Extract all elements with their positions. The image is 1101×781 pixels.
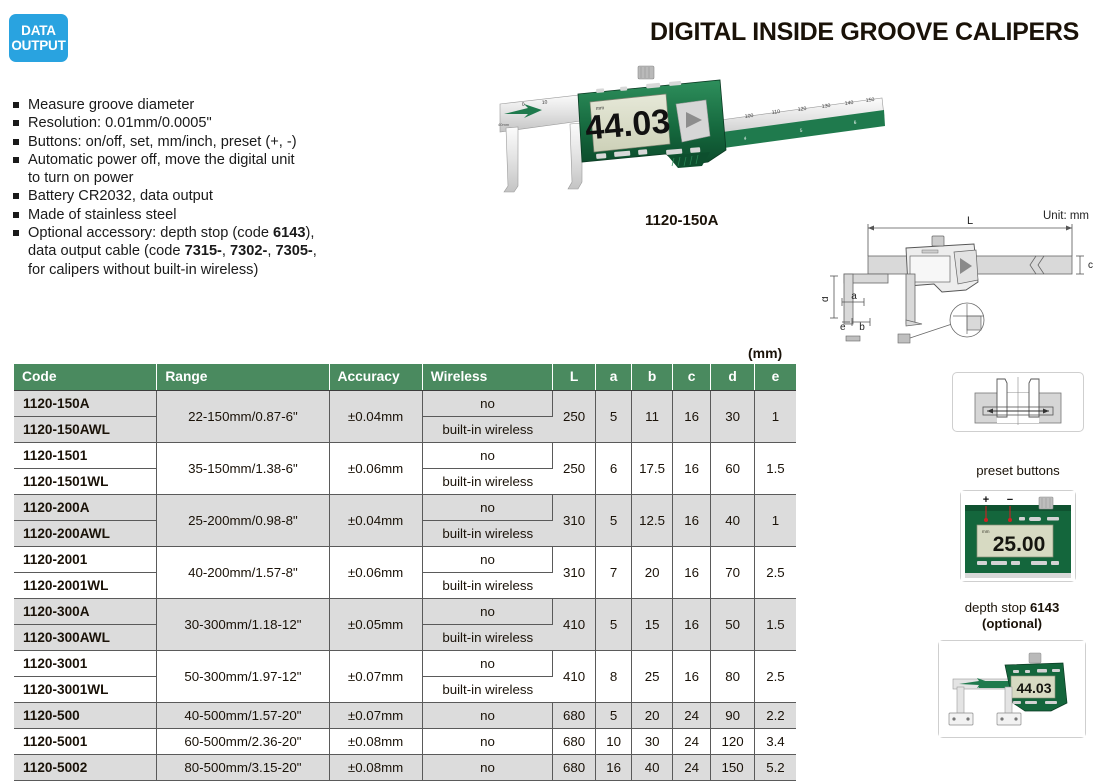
- cell-dim-a: 5: [595, 598, 631, 650]
- cell-dim-c: 24: [672, 754, 710, 780]
- product-photo-main: 0 10 40mm 80 100 110 120 130 140 150 4 5…: [470, 58, 890, 218]
- cell-dim-b: 40: [632, 754, 673, 780]
- cell-dim-e: 3.4: [754, 728, 796, 754]
- dim-label-b: b: [859, 322, 865, 333]
- feature-text-continuation: to turn on power: [10, 169, 430, 187]
- column-header-l: L: [553, 364, 596, 390]
- badge-line-1: DATA: [21, 23, 56, 38]
- dim-label-e: e: [840, 322, 846, 333]
- cell-range: 25-200mm/0.98-8": [157, 494, 329, 546]
- feature-item: Optional accessory: depth stop (code 614…: [10, 224, 430, 242]
- table-header-row: CodeRangeAccuracyWirelessLabcde: [14, 364, 796, 390]
- bullet-icon: [13, 157, 19, 163]
- cell-accuracy: ±0.07mm: [329, 702, 422, 728]
- bullet-icon: [13, 139, 19, 145]
- column-header-b: b: [632, 364, 673, 390]
- table-row: 1120-150A22-150mm/0.87-6"±0.04mmno250511…: [14, 390, 796, 416]
- cell-range: 30-300mm/1.18-12": [157, 598, 329, 650]
- preset-buttons-panel: + − 25.00 mm: [960, 490, 1076, 582]
- cell-dim-b: 17.5: [632, 442, 673, 494]
- cell-dim-c: 16: [672, 598, 710, 650]
- cell-accuracy: ±0.06mm: [329, 442, 422, 494]
- cell-dim-b: 15: [632, 598, 673, 650]
- feature-list: Measure groove diameterResolution: 0.01m…: [10, 96, 430, 279]
- data-output-badge: DATA OUTPUT: [9, 14, 68, 62]
- product-model-label: 1120-150A: [645, 212, 718, 229]
- cell-range: 22-150mm/0.87-6": [157, 390, 329, 442]
- depth-stop-caption-main: depth stop: [965, 600, 1030, 615]
- specifications-table: CodeRangeAccuracyWirelessLabcde 1120-150…: [14, 364, 796, 781]
- cell-dim-c: 16: [672, 390, 710, 442]
- cell-accuracy: ±0.04mm: [329, 494, 422, 546]
- cell-dim-L: 680: [553, 754, 596, 780]
- cell-wireless: no: [422, 650, 553, 676]
- cell-dim-L: 680: [553, 702, 596, 728]
- feature-item: Battery CR2032, data output: [10, 187, 430, 205]
- cell-dim-d: 120: [711, 728, 755, 754]
- page-title: DIGITAL INSIDE GROOVE CALIPERS: [650, 18, 1079, 47]
- dim-label-a: a: [851, 291, 857, 302]
- table-row: 1120-500160-500mm/2.36-20"±0.08mmno68010…: [14, 728, 796, 754]
- feature-text: Automatic power off, move the digital un…: [28, 151, 430, 169]
- cell-dim-L: 250: [553, 442, 596, 494]
- cell-dim-e: 2.5: [754, 546, 796, 598]
- cell-code: 1120-200A: [14, 494, 157, 520]
- column-header-wireless: Wireless: [422, 364, 553, 390]
- column-header-a: a: [595, 364, 631, 390]
- cell-dim-e: 1.5: [754, 442, 796, 494]
- cell-wireless: no: [422, 546, 553, 572]
- cell-dim-c: 24: [672, 702, 710, 728]
- feature-text-continuation: for calipers without built-in wireless): [10, 261, 430, 279]
- table-row: 1120-200A25-200mm/0.98-8"±0.04mmno310512…: [14, 494, 796, 520]
- cell-dim-a: 5: [595, 702, 631, 728]
- feature-text: Optional accessory: depth stop (code 614…: [28, 224, 430, 242]
- dimension-diagram: L c d: [822, 206, 1098, 348]
- cell-wireless: built-in wireless: [422, 676, 553, 702]
- cell-dim-a: 6: [595, 442, 631, 494]
- table-row: 1120-300A30-300mm/1.18-12"±0.05mmno41051…: [14, 598, 796, 624]
- cell-dim-d: 50: [711, 598, 755, 650]
- cell-code: 1120-300A: [14, 598, 157, 624]
- svg-text:10: 10: [542, 99, 548, 106]
- cell-dim-c: 16: [672, 494, 710, 546]
- cell-accuracy: ±0.04mm: [329, 390, 422, 442]
- cell-dim-a: 5: [595, 390, 631, 442]
- cell-wireless: no: [422, 442, 553, 468]
- feature-text: Measure groove diameter: [28, 96, 430, 114]
- preset-buttons-caption: preset buttons: [928, 463, 1101, 479]
- cell-dim-c: 16: [672, 442, 710, 494]
- cell-wireless: no: [422, 754, 553, 780]
- cell-dim-c: 24: [672, 728, 710, 754]
- svg-text:mm: mm: [596, 105, 605, 112]
- feature-item: Measure groove diameter: [10, 96, 430, 114]
- cell-range: 50-300mm/1.97-12": [157, 650, 329, 702]
- cell-dim-a: 8: [595, 650, 631, 702]
- cell-code: 1120-200AWL: [14, 520, 157, 546]
- cell-dim-b: 20: [632, 546, 673, 598]
- cell-dim-d: 80: [711, 650, 755, 702]
- lcd-reading-preset: 25.00: [993, 533, 1046, 556]
- cell-range: 80-500mm/3.15-20": [157, 754, 329, 780]
- cell-wireless: built-in wireless: [422, 572, 553, 598]
- cell-code: 1120-300AWL: [14, 624, 157, 650]
- cell-dim-d: 60: [711, 442, 755, 494]
- column-header-d: d: [711, 364, 755, 390]
- cell-code: 1120-500: [14, 702, 157, 728]
- depth-stop-caption: depth stop 6143 (optional): [922, 600, 1101, 632]
- cell-dim-e: 1: [754, 494, 796, 546]
- table-row: 1120-200140-200mm/1.57-8"±0.06mmno310720…: [14, 546, 796, 572]
- bullet-icon: [13, 102, 19, 108]
- cell-dim-L: 410: [553, 650, 596, 702]
- svg-text:100: 100: [744, 113, 754, 120]
- column-header-accuracy: Accuracy: [329, 364, 422, 390]
- cell-dim-a: 10: [595, 728, 631, 754]
- cell-wireless: built-in wireless: [422, 416, 553, 442]
- column-header-code: Code: [14, 364, 157, 390]
- cell-accuracy: ±0.05mm: [329, 598, 422, 650]
- cell-dim-e: 2.5: [754, 650, 796, 702]
- cell-dim-e: 2.2: [754, 702, 796, 728]
- cell-wireless: built-in wireless: [422, 624, 553, 650]
- cell-code: 1120-1501WL: [14, 468, 157, 494]
- cell-dim-L: 250: [553, 390, 596, 442]
- lcd-reading-depth: 44.03: [1016, 680, 1051, 696]
- column-header-e: e: [754, 364, 796, 390]
- cell-dim-b: 11: [632, 390, 673, 442]
- cell-code: 1120-150A: [14, 390, 157, 416]
- cell-wireless: no: [422, 728, 553, 754]
- dim-label-L: L: [967, 215, 973, 227]
- cell-code: 1120-150AWL: [14, 416, 157, 442]
- cell-range: 35-150mm/1.38-6": [157, 442, 329, 494]
- feature-item: Buttons: on/off, set, mm/inch, preset (+…: [10, 133, 430, 151]
- svg-text:150: 150: [865, 97, 875, 104]
- feature-item: Made of stainless steel: [10, 206, 430, 224]
- cell-dim-L: 410: [553, 598, 596, 650]
- cell-code: 1120-3001: [14, 650, 157, 676]
- cell-wireless: no: [422, 702, 553, 728]
- cell-dim-e: 5.2: [754, 754, 796, 780]
- cell-code: 1120-2001WL: [14, 572, 157, 598]
- cell-dim-L: 680: [553, 728, 596, 754]
- cell-code: 1120-2001: [14, 546, 157, 572]
- cell-dim-b: 25: [632, 650, 673, 702]
- cell-dim-b: 12.5: [632, 494, 673, 546]
- depth-stop-panel: 44.03: [938, 640, 1086, 738]
- feature-text: Battery CR2032, data output: [28, 187, 430, 205]
- cell-dim-d: 40: [711, 494, 755, 546]
- preset-minus-label: −: [1007, 494, 1013, 506]
- cell-dim-a: 16: [595, 754, 631, 780]
- cell-wireless: no: [422, 494, 553, 520]
- cell-dim-a: 5: [595, 494, 631, 546]
- table-row: 1120-150135-150mm/1.38-6"±0.06mmno250617…: [14, 442, 796, 468]
- feature-text: Made of stainless steel: [28, 206, 430, 224]
- table-row: 1120-300150-300mm/1.97-12"±0.07mmno41082…: [14, 650, 796, 676]
- cell-dim-e: 1: [754, 390, 796, 442]
- dim-label-d: d: [822, 296, 831, 302]
- feature-item: Automatic power off, move the digital un…: [10, 151, 430, 169]
- cell-code: 1120-5001: [14, 728, 157, 754]
- cell-wireless: built-in wireless: [422, 468, 553, 494]
- cell-wireless: no: [422, 390, 553, 416]
- bullet-icon: [13, 193, 19, 199]
- cell-accuracy: ±0.08mm: [329, 728, 422, 754]
- bullet-icon: [13, 230, 19, 236]
- preset-plus-label: +: [983, 494, 989, 506]
- svg-text:140: 140: [844, 100, 854, 107]
- cell-range: 40-500mm/1.57-20": [157, 702, 329, 728]
- cell-range: 60-500mm/2.36-20": [157, 728, 329, 754]
- depth-stop-optional: (optional): [982, 616, 1042, 631]
- feature-text-continuation: data output cable (code 7315-, 7302-, 73…: [10, 242, 430, 260]
- column-header-range: Range: [157, 364, 329, 390]
- depth-stop-code: 6143: [1030, 600, 1059, 615]
- application-diagram-panel: [952, 372, 1084, 432]
- cell-code: 1120-3001WL: [14, 676, 157, 702]
- cell-dim-L: 310: [553, 546, 596, 598]
- column-header-c: c: [672, 364, 710, 390]
- table-body: 1120-150A22-150mm/0.87-6"±0.04mmno250511…: [14, 390, 796, 780]
- cell-wireless: built-in wireless: [422, 520, 553, 546]
- bullet-icon: [13, 212, 19, 218]
- svg-text:mm: mm: [982, 529, 990, 534]
- table-unit-note: (mm): [748, 345, 782, 361]
- svg-text:110: 110: [771, 109, 780, 116]
- feature-text: Resolution: 0.01mm/0.0005": [28, 114, 430, 132]
- cell-dim-c: 16: [672, 546, 710, 598]
- table-row: 1120-50040-500mm/1.57-20"±0.07mmno680520…: [14, 702, 796, 728]
- feature-item: Resolution: 0.01mm/0.0005": [10, 114, 430, 132]
- cell-accuracy: ±0.06mm: [329, 546, 422, 598]
- badge-line-2: OUTPUT: [11, 38, 65, 53]
- cell-range: 40-200mm/1.57-8": [157, 546, 329, 598]
- dim-label-c: c: [1088, 260, 1093, 271]
- cell-dim-d: 70: [711, 546, 755, 598]
- cell-accuracy: ±0.07mm: [329, 650, 422, 702]
- cell-dim-d: 30: [711, 390, 755, 442]
- table-row: 1120-500280-500mm/3.15-20"±0.08mmno68016…: [14, 754, 796, 780]
- cell-dim-c: 16: [672, 650, 710, 702]
- cell-code: 1120-5002: [14, 754, 157, 780]
- cell-wireless: no: [422, 598, 553, 624]
- cell-code: 1120-1501: [14, 442, 157, 468]
- cell-dim-e: 1.5: [754, 598, 796, 650]
- cell-accuracy: ±0.08mm: [329, 754, 422, 780]
- cell-dim-a: 7: [595, 546, 631, 598]
- cell-dim-b: 20: [632, 702, 673, 728]
- cell-dim-L: 310: [553, 494, 596, 546]
- svg-text:120: 120: [797, 106, 807, 113]
- svg-text:40mm: 40mm: [498, 122, 510, 127]
- cell-dim-d: 90: [711, 702, 755, 728]
- svg-text:130: 130: [821, 103, 831, 110]
- cell-dim-d: 150: [711, 754, 755, 780]
- bullet-icon: [13, 120, 19, 126]
- feature-text: Buttons: on/off, set, mm/inch, preset (+…: [28, 133, 430, 151]
- cell-dim-b: 30: [632, 728, 673, 754]
